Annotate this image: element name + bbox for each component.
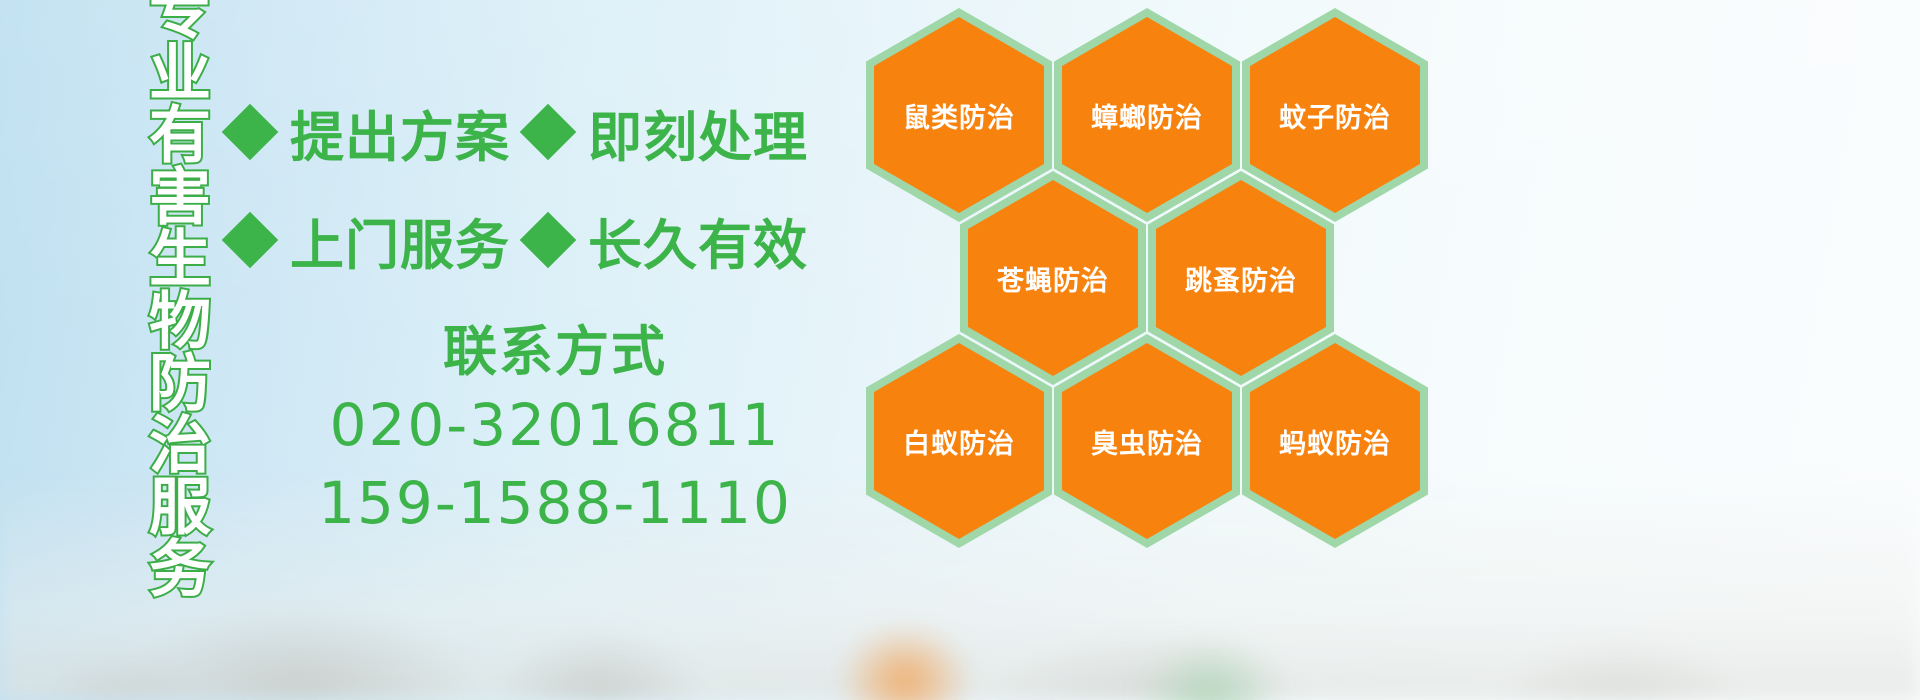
hex-label: 苍蝇防治 <box>997 259 1109 298</box>
feature-item-long-lasting: 长久有效 <box>528 201 808 280</box>
diamond-icon <box>222 104 279 161</box>
feature-row-2: 上门服务 长久有效 <box>230 186 870 294</box>
hex-label: 臭虫防治 <box>1091 422 1203 461</box>
background-green-blur-blob <box>1135 635 1285 700</box>
hex-inner: 白蚁防治 <box>874 343 1044 539</box>
background-orange-blur-blob <box>835 620 975 700</box>
hex-inner: 蚂蚁防治 <box>1250 343 1420 539</box>
feature-label: 即刻处理 <box>588 93 808 172</box>
pest-control-banner: 专业有害生物防治服务 提出方案 即刻处理 上门服务 长久有效 联系方式 <box>0 0 1920 700</box>
contact-block: 联系方式 020-32016811 159-1588-1110 <box>240 318 870 542</box>
contact-title: 联系方式 <box>240 318 870 386</box>
hex-inner: 鼠类防治 <box>874 17 1044 213</box>
hex-label: 蚂蚁防治 <box>1279 422 1391 461</box>
feature-label: 提出方案 <box>290 93 510 172</box>
feature-item-propose-plan: 提出方案 <box>230 93 510 172</box>
contact-phone-landline[interactable]: 020-32016811 <box>240 386 870 464</box>
hex-inner: 蟑螂防治 <box>1062 17 1232 213</box>
hex-inner: 跳蚤防治 <box>1156 180 1326 376</box>
diamond-icon <box>520 104 577 161</box>
feature-row-1: 提出方案 即刻处理 <box>230 78 870 186</box>
hex-inner: 蚊子防治 <box>1250 17 1420 213</box>
feature-item-onsite-service: 上门服务 <box>230 201 510 280</box>
diamond-icon <box>222 212 279 269</box>
feature-item-immediate-handling: 即刻处理 <box>528 93 808 172</box>
feature-list: 提出方案 即刻处理 上门服务 长久有效 <box>230 78 870 294</box>
feature-label: 长久有效 <box>588 201 808 280</box>
hex-label: 跳蚤防治 <box>1185 259 1297 298</box>
hex-inner: 臭虫防治 <box>1062 343 1232 539</box>
hex-label: 鼠类防治 <box>903 96 1015 135</box>
hex-inner: 苍蝇防治 <box>968 180 1138 376</box>
service-honeycomb: 鼠类防治 蟑螂防治 蚊子防治 苍蝇防治 跳蚤防治 白蚁防治 <box>858 0 1458 560</box>
hex-label: 白蚁防治 <box>903 422 1015 461</box>
contact-phone-mobile[interactable]: 159-1588-1110 <box>240 464 870 542</box>
vertical-headline: 专业有害生物防治服务 <box>104 8 204 568</box>
hex-label: 蚊子防治 <box>1279 96 1391 135</box>
feature-label: 上门服务 <box>290 201 510 280</box>
diamond-icon <box>520 212 577 269</box>
hex-label: 蟑螂防治 <box>1091 96 1203 135</box>
